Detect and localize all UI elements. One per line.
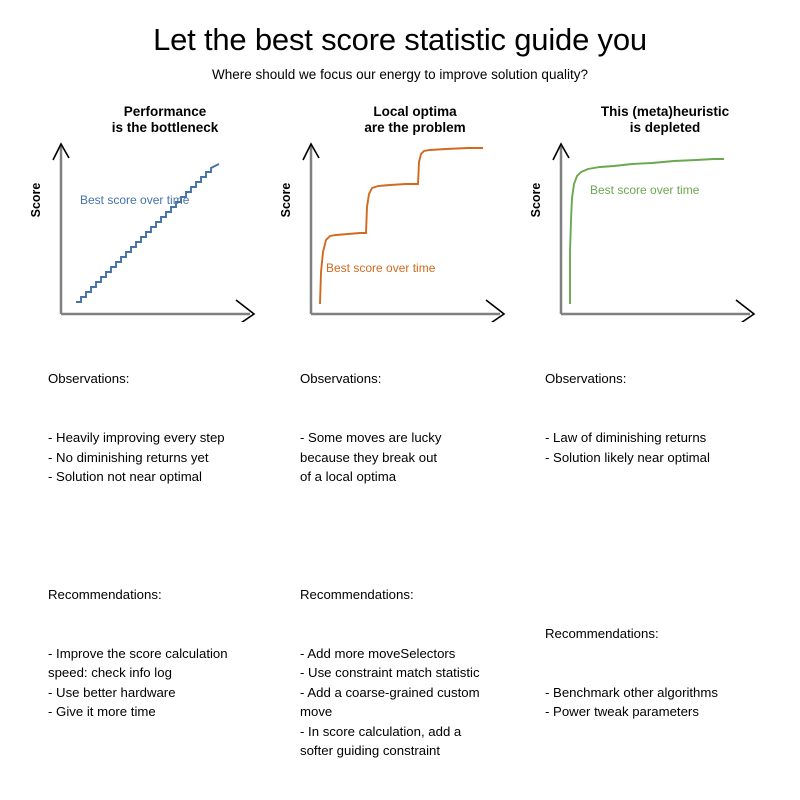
series-line-best-score bbox=[570, 159, 724, 304]
chart-panel-local-optima: Local optima are the problem Score Time … bbox=[278, 104, 533, 319]
page-title: Let the best score statistic guide you bbox=[0, 0, 800, 58]
spacer bbox=[300, 526, 535, 546]
x-axis-arrowhead-icon bbox=[235, 300, 254, 322]
text-column-local-optima: Observations: - Some moves are lucky bec… bbox=[300, 330, 535, 800]
series-line-best-score bbox=[76, 164, 219, 302]
recommendations-list: - Improve the score calculation speed: c… bbox=[48, 644, 288, 722]
x-axis-arrowhead-icon bbox=[485, 300, 504, 322]
slide: Let the best score statistic guide you W… bbox=[0, 0, 800, 600]
recommendations-heading: Recommendations: bbox=[545, 624, 785, 644]
observations-list: - Heavily improving every step - No dimi… bbox=[48, 428, 288, 487]
y-axis-label: Score bbox=[529, 183, 543, 218]
chart-panel-performance: Performance is the bottleneck Score Time… bbox=[28, 104, 283, 319]
chart-svg-depleted: Score Time Best score over time bbox=[528, 132, 783, 322]
chart-title-line-1: This (meta)heuristic bbox=[550, 104, 780, 120]
series-line-best-score bbox=[320, 148, 483, 304]
observations-heading: Observations: bbox=[48, 369, 288, 389]
series-label-best-score: Best score over time bbox=[590, 183, 700, 197]
spacer bbox=[48, 526, 288, 546]
chart-canvas-depleted: Score Time Best score over time bbox=[528, 132, 783, 322]
chart-svg-local-optima: Score Time Best score over time bbox=[278, 132, 533, 322]
chart-svg-performance: Score Time Best score over time bbox=[28, 132, 283, 322]
recommendations-heading: Recommendations: bbox=[48, 585, 288, 605]
observations-list: - Some moves are lucky because they brea… bbox=[300, 428, 535, 487]
chart-canvas-local-optima: Score Time Best score over time bbox=[278, 132, 533, 322]
chart-panel-depleted: This (meta)heuristic is depleted Score T… bbox=[528, 104, 783, 319]
y-axis-label: Score bbox=[29, 183, 43, 218]
chart-title-line-1: Local optima bbox=[300, 104, 530, 120]
observations-heading: Observations: bbox=[300, 369, 535, 389]
spacer bbox=[545, 506, 785, 526]
text-column-depleted: Observations: - Law of diminishing retur… bbox=[545, 330, 785, 761]
y-axis-label: Score bbox=[279, 183, 293, 218]
x-axis-arrowhead-icon bbox=[735, 300, 754, 322]
spacer bbox=[545, 565, 785, 585]
chart-title-line-1: Performance bbox=[50, 104, 280, 120]
page-subtitle: Where should we focus our energy to impr… bbox=[0, 58, 800, 82]
series-label-best-score: Best score over time bbox=[326, 261, 436, 275]
chart-canvas-performance: Score Time Best score over time bbox=[28, 132, 283, 322]
series-label-best-score: Best score over time bbox=[80, 193, 190, 207]
recommendations-heading: Recommendations: bbox=[300, 585, 535, 605]
charts-row: Performance is the bottleneck Score Time… bbox=[0, 104, 800, 324]
recommendations-list: - Add more moveSelectors - Use constrain… bbox=[300, 644, 535, 762]
recommendations-list: - Benchmark other algorithms - Power twe… bbox=[545, 683, 785, 722]
text-column-performance: Observations: - Heavily improving every … bbox=[48, 330, 288, 761]
observations-list: - Law of diminishing returns - Solution … bbox=[545, 428, 785, 467]
observations-heading: Observations: bbox=[545, 369, 785, 389]
